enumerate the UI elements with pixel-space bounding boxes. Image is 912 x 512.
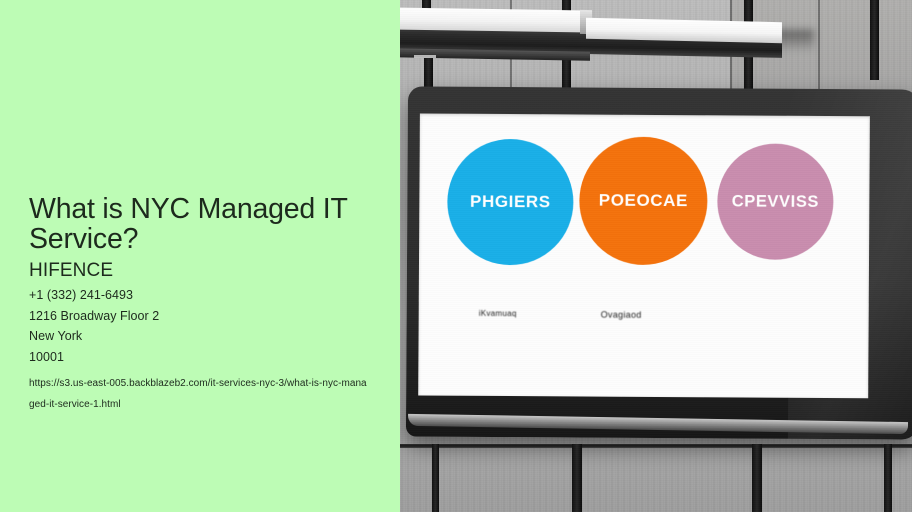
page-title: What is NYC Managed IT Service? (29, 194, 429, 254)
screenshot-canvas: What is NYC Managed IT Service? HIFENCE … (0, 0, 912, 512)
slat-divider (432, 444, 439, 512)
slat-notch (744, 54, 753, 90)
slat-notch (870, 0, 879, 80)
screen-bubble-2: POEOCAE (579, 136, 708, 265)
screen-bubble-1: PHGIERS (447, 139, 574, 266)
rail-highlight-right (586, 18, 782, 43)
monitor-screen: PHGIERS POEOCAE CPEVVISS iKvamuaq Ovagia… (418, 114, 870, 399)
rail-highlight-left (400, 7, 588, 32)
screen-caption-1: iKvamuaq (479, 309, 517, 318)
product-photo: PHGIERS POEOCAE CPEVVISS iKvamuaq Ovagia… (400, 0, 912, 512)
wall-seam (818, 0, 820, 92)
source-url-link[interactable]: https://s3.us-east-005.backblazeb2.com/i… (29, 374, 369, 415)
slat-divider (752, 444, 762, 512)
slat-notch (744, 0, 753, 22)
monitor-device: PHGIERS POEOCAE CPEVVISS iKvamuaq Ovagia… (406, 86, 912, 439)
slat-divider (884, 444, 892, 512)
slat-divider (572, 444, 582, 512)
wall-panel-patch (820, 0, 912, 92)
wall-groove (400, 444, 912, 448)
slat-notch (424, 58, 433, 90)
screen-caption-2: Ovagiaod (601, 310, 642, 320)
rail-tick-mark (414, 55, 436, 58)
screen-bubble-3: CPEVVISS (717, 143, 834, 260)
slat-notch (562, 60, 571, 90)
